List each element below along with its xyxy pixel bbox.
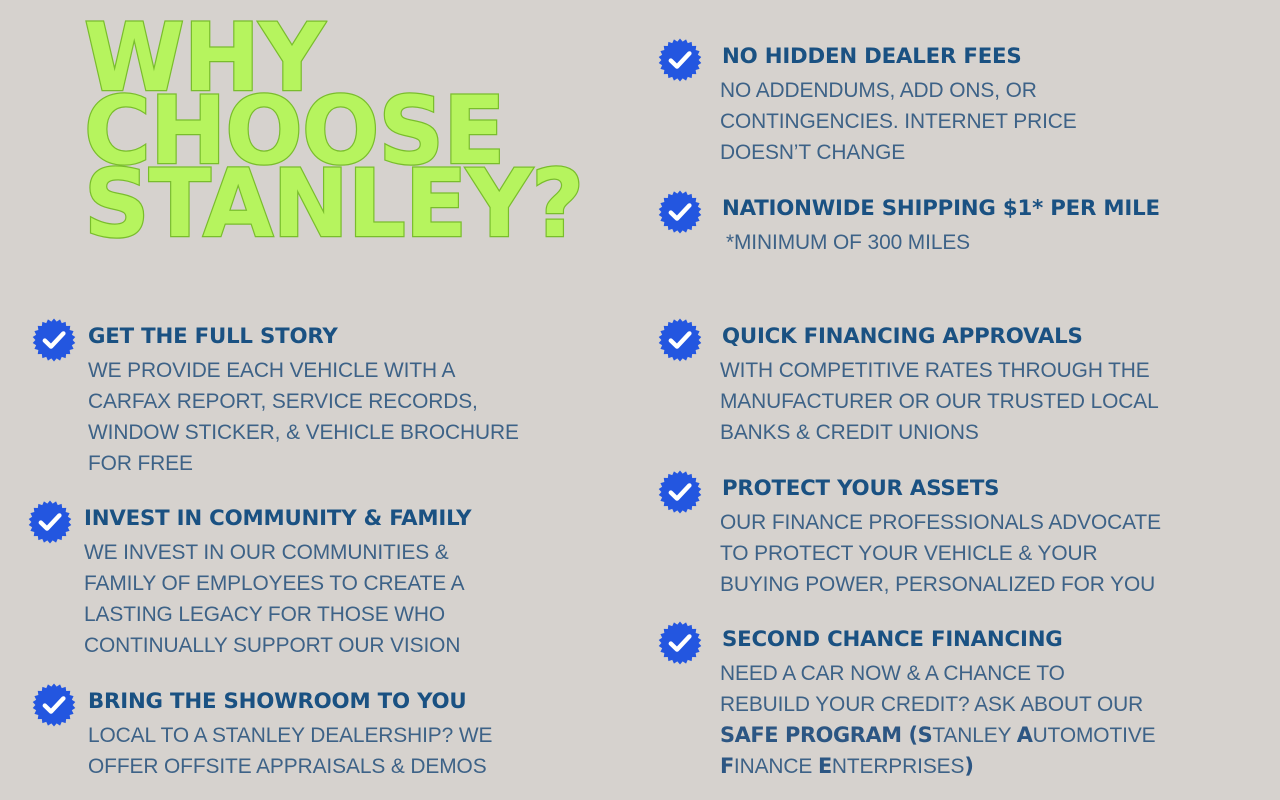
check-badge-icon <box>658 470 702 514</box>
feature-item: SECOND CHANCE FINANCINGNEED A CAR NOW & … <box>658 621 1158 782</box>
feature-text-line: WE PROVIDE EACH VEHICLE WITH A <box>88 355 519 386</box>
feature-text-line: DOESN’T CHANGE <box>720 137 1077 168</box>
feature-text-line: NO ADDENDUMS, ADD ONS, OR <box>720 75 1077 106</box>
check-badge-icon <box>658 318 702 362</box>
feature-text-line: FINANCE ENTERPRISES) <box>720 751 1156 782</box>
promo-poster: WHY CHOOSE STANLEY? GET THE FULL STORYWE… <box>0 0 1280 800</box>
feature-text-line: CARFAX REPORT, SERVICE RECORDS, <box>88 386 519 417</box>
feature-title: GET THE FULL STORY <box>88 318 517 355</box>
check-badge-icon <box>28 500 72 544</box>
check-badge-icon <box>658 190 702 234</box>
check-badge-icon <box>32 318 76 362</box>
feature-body: NATIONWIDE SHIPPING $1* PER MILE*MINIMUM… <box>720 190 1164 258</box>
feature-text-line: WE INVEST IN OUR COMMUNITIES & <box>84 537 473 568</box>
feature-text-line: FAMILY OF EMPLOYEES TO CREATE A <box>84 568 473 599</box>
feature-text-line: LOCAL TO A STANLEY DEALERSHIP? WE <box>88 720 492 751</box>
feature-item: PROTECT YOUR ASSETSOUR FINANCE PROFESSIO… <box>658 470 1163 600</box>
feature-text-line: NEED A CAR NOW & A CHANCE TO <box>720 658 1156 689</box>
feature-title: INVEST IN COMMUNITY & FAMILY <box>84 500 471 537</box>
feature-text-line: MANUFACTURER OR OUR TRUSTED LOCAL <box>720 386 1159 417</box>
feature-item: QUICK FINANCING APPROVALSWITH COMPETITIV… <box>658 318 1161 448</box>
feature-title: NATIONWIDE SHIPPING $1* PER MILE <box>720 190 1160 227</box>
feature-text-line: BUYING POWER, PERSONALIZED FOR YOU <box>720 569 1161 600</box>
feature-title: QUICK FINANCING APPROVALS <box>720 318 1156 355</box>
check-badge-icon <box>32 683 76 727</box>
feature-text-line: REBUILD YOUR CREDIT? ASK ABOUT OUR <box>720 689 1156 720</box>
feature-item: BRING THE SHOWROOM TO YOULOCAL TO A STAN… <box>32 683 494 782</box>
feature-item: INVEST IN COMMUNITY & FAMILYWE INVEST IN… <box>28 500 475 661</box>
feature-text-line: OUR FINANCE PROFESSIONALS ADVOCATE <box>720 507 1161 538</box>
feature-body: GET THE FULL STORYWE PROVIDE EACH VEHICL… <box>88 318 521 479</box>
feature-body: BRING THE SHOWROOM TO YOULOCAL TO A STAN… <box>88 683 494 782</box>
page-title: WHY CHOOSE STANLEY? <box>84 22 604 241</box>
feature-text-line: BANKS & CREDIT UNIONS <box>720 417 1159 448</box>
feature-body: SECOND CHANCE FINANCINGNEED A CAR NOW & … <box>720 621 1158 782</box>
feature-body: NO HIDDEN DEALER FEESNO ADDENDUMS, ADD O… <box>720 38 1078 168</box>
feature-text-line: *MINIMUM OF 300 MILES <box>720 227 1162 258</box>
feature-item: GET THE FULL STORYWE PROVIDE EACH VEHICL… <box>32 318 521 479</box>
feature-text-line: WINDOW STICKER, & VEHICLE BROCHURE <box>88 417 519 448</box>
feature-body: INVEST IN COMMUNITY & FAMILYWE INVEST IN… <box>84 500 475 661</box>
feature-title: NO HIDDEN DEALER FEES <box>720 38 1075 75</box>
check-badge-icon <box>658 38 702 82</box>
feature-text-line: CONTINGENCIES. INTERNET PRICE <box>720 106 1077 137</box>
feature-text-line: CONTINUALLY SUPPORT OUR VISION <box>84 630 473 661</box>
feature-text-line: WITH COMPETITIVE RATES THROUGH THE <box>720 355 1159 386</box>
check-badge-icon <box>658 621 702 665</box>
feature-text-line: LASTING LEGACY FOR THOSE WHO <box>84 599 473 630</box>
feature-title: PROTECT YOUR ASSETS <box>720 470 1159 507</box>
feature-item: NO HIDDEN DEALER FEESNO ADDENDUMS, ADD O… <box>658 38 1078 168</box>
feature-text-line: TO PROTECT YOUR VEHICLE & YOUR <box>720 538 1161 569</box>
feature-title: BRING THE SHOWROOM TO YOU <box>88 683 490 720</box>
feature-title: SECOND CHANCE FINANCING <box>720 621 1153 658</box>
feature-item: NATIONWIDE SHIPPING $1* PER MILE*MINIMUM… <box>658 190 1164 258</box>
feature-body: PROTECT YOUR ASSETSOUR FINANCE PROFESSIO… <box>720 470 1163 600</box>
feature-text-line: FOR FREE <box>88 448 519 479</box>
feature-text-line: OFFER OFFSITE APPRAISALS & DEMOS <box>88 751 492 782</box>
feature-body: QUICK FINANCING APPROVALSWITH COMPETITIV… <box>720 318 1161 448</box>
headline-line-3: STANLEY? <box>84 168 588 241</box>
feature-text-line: SAFE PROGRAM (STANLEY AUTOMOTIVE <box>720 720 1156 751</box>
